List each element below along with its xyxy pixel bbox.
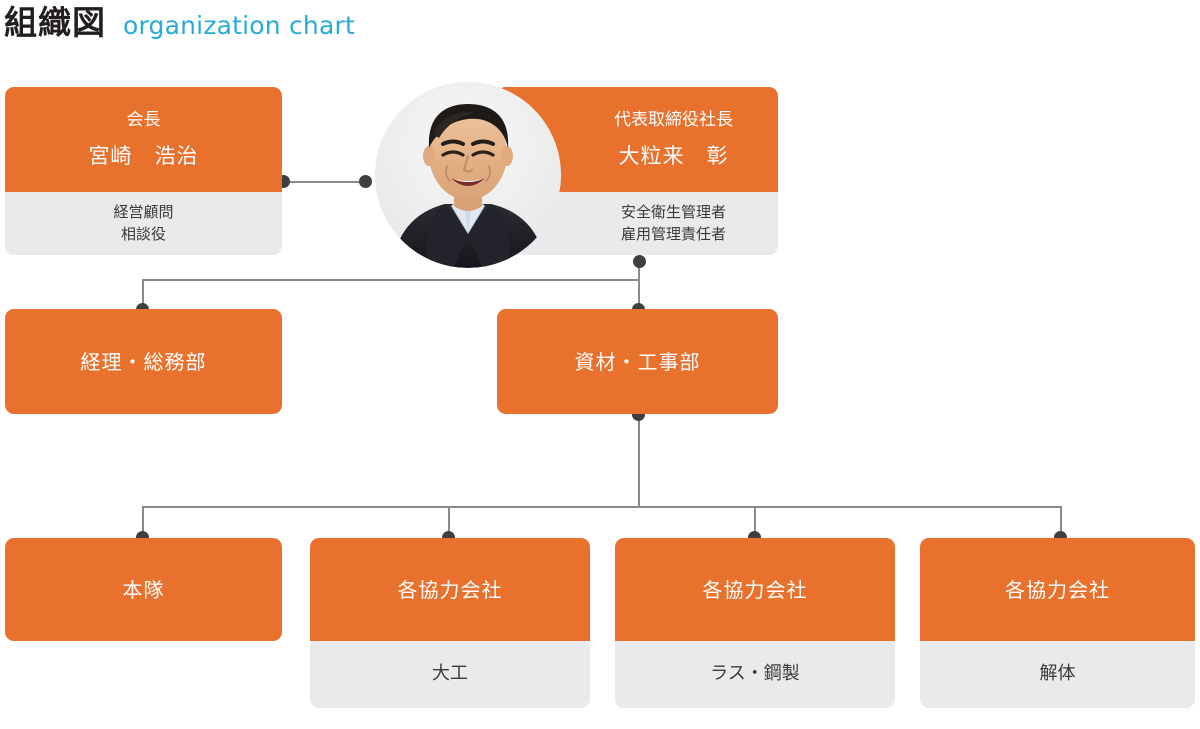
node-partner2-footer-text: ラス・鋼製 [710,661,800,687]
node-partner1-head: 各協力会社 [310,538,590,641]
connector-chairman-president [284,181,366,183]
node-chairman-footer-line2: 相談役 [121,224,166,246]
node-chairman-footer-line1: 経営顧問 [113,202,173,224]
node-president-footer-line1: 安全衛生管理者 [621,202,726,224]
page-header: 組織図 organization chart [4,6,355,39]
node-materials-head: 資材・工事部 [497,309,778,414]
org-chart-canvas: 組織図 organization chart 会長 宮崎 浩治 経営顧問 相談役… [0,0,1200,729]
node-unit-main-title: 本隊 [123,578,165,602]
node-materials-title: 資材・工事部 [575,350,701,374]
node-chairman-name: 宮崎 浩治 [89,144,199,169]
node-partner2-footer: ラス・鋼製 [615,641,895,708]
node-accounting-title: 経理・総務部 [81,350,207,374]
node-accounting-head: 経理・総務部 [5,309,282,414]
node-partner2-head: 各協力会社 [615,538,895,641]
connector-materials-down [638,414,640,507]
node-partner3-head: 各協力会社 [920,538,1195,641]
node-partner1-footer-text: 大工 [432,661,468,687]
node-accounting[interactable]: 経理・総務部 [5,309,282,414]
page-title-ja: 組織図 [4,6,106,39]
connector-dot-president-left [359,175,372,188]
node-partner1[interactable]: 各協力会社 大工 [310,538,590,708]
node-president-footer-line2: 雇用管理責任者 [621,224,726,246]
portrait-illustration [375,82,561,268]
node-unit-main-head: 本隊 [5,538,282,641]
connector-dot-president-bottom [633,255,646,268]
node-partner2-title: 各協力会社 [703,578,808,602]
node-partner2[interactable]: 各協力会社 ラス・鋼製 [615,538,895,708]
node-partner1-footer: 大工 [310,641,590,708]
node-partner3[interactable]: 各協力会社 解体 [920,538,1195,708]
node-chairman-role: 会長 [127,110,161,130]
node-partner1-title: 各協力会社 [398,578,503,602]
connector-tier3-trunk [142,506,1061,508]
president-portrait-photo [375,82,561,268]
node-chairman-footer: 経営顧問 相談役 [5,192,282,255]
node-materials[interactable]: 資材・工事部 [497,309,778,414]
node-president-name: 大粒来 彰 [619,144,729,169]
node-chairman-head: 会長 宮崎 浩治 [5,87,282,192]
node-partner3-title: 各協力会社 [1005,578,1110,602]
node-partner3-footer-text: 解体 [1040,661,1076,687]
node-president-role: 代表取締役社長 [614,110,733,130]
connector-tier2-trunk [142,279,640,281]
node-chairman[interactable]: 会長 宮崎 浩治 経営顧問 相談役 [5,87,282,255]
node-partner3-footer: 解体 [920,641,1195,708]
node-unit-main[interactable]: 本隊 [5,538,282,641]
page-title-en: organization chart [123,13,355,38]
